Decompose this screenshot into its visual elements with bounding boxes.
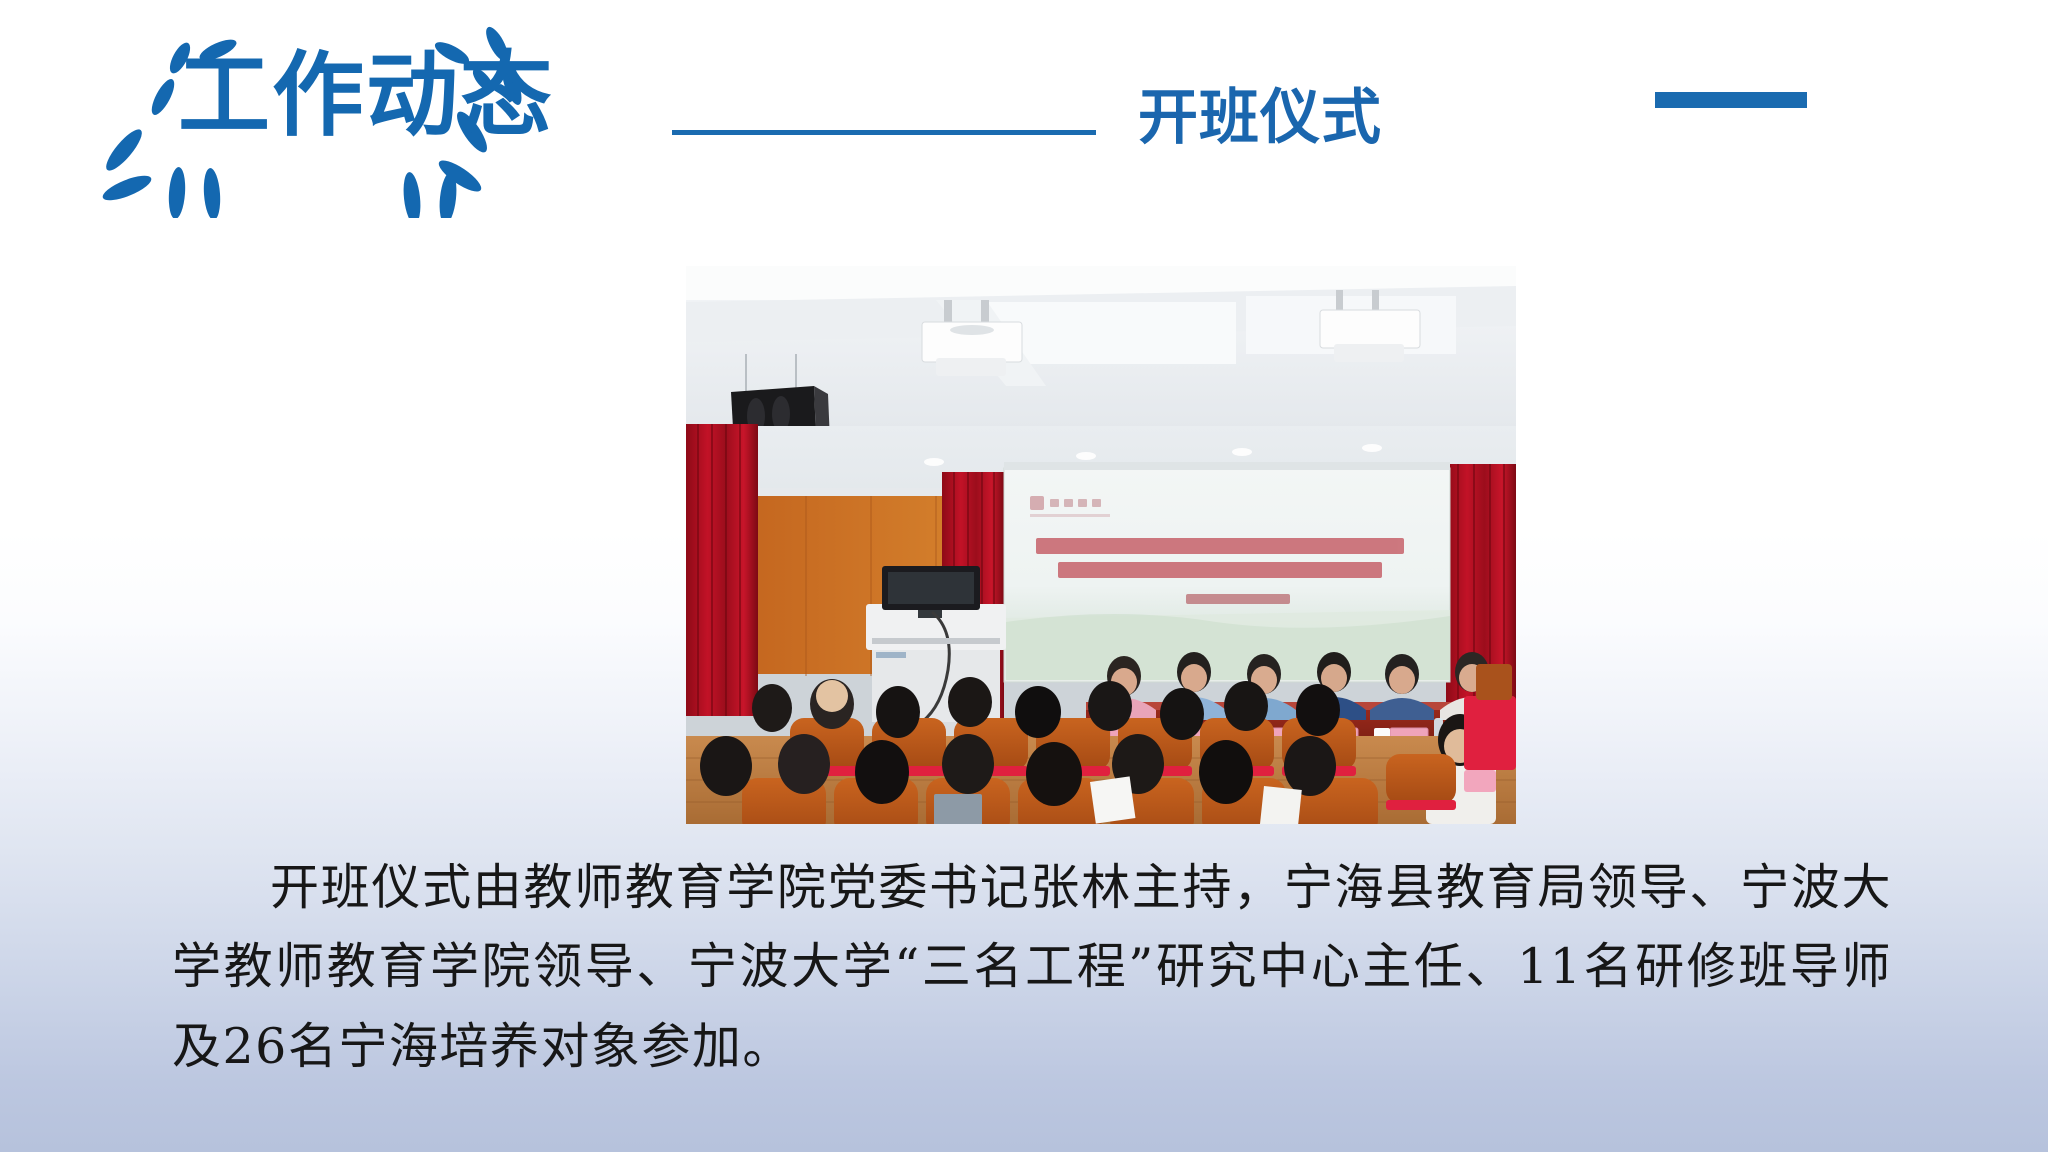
accent-dash [1655,92,1807,108]
slide-header: 工作动态 开班仪式 [0,0,2048,225]
conference-room-photo-illustration [686,266,1516,824]
slide-root: 工作动态 开班仪式 [0,0,2048,1152]
body-paragraph: 开班仪式由教师教育学院党委书记张林主持，宁海县教育局领导、宁波大学教师教育学院领… [172,848,1892,1086]
event-photo [686,266,1516,824]
section-subtitle: 开班仪式 [1138,88,1382,148]
header-divider [672,130,1096,135]
page-title: 工作动态 [178,50,554,142]
